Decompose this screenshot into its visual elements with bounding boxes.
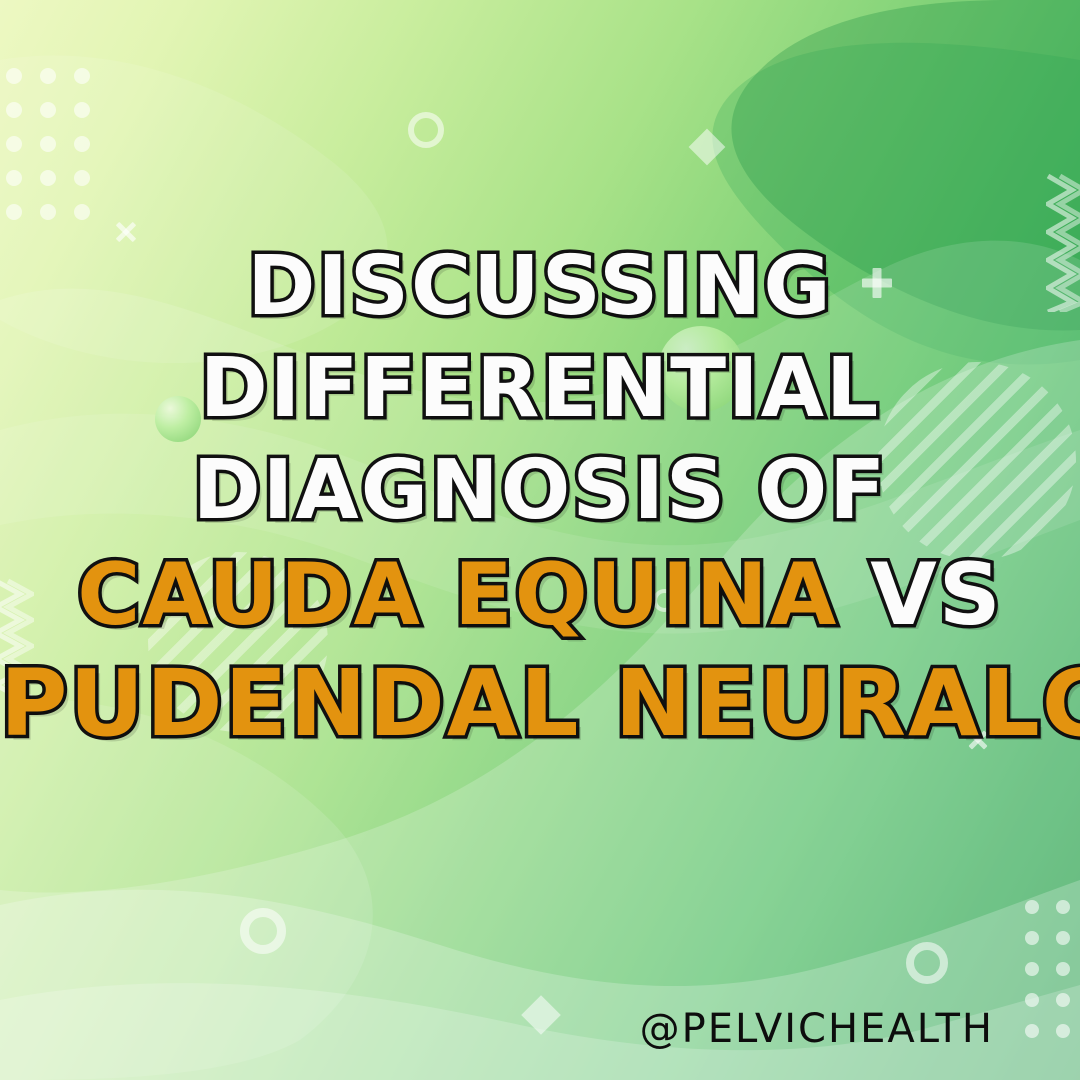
poster-canvas: DISCUSSING DIFFERENTIAL DIAGNOSIS OF CAU…	[0, 0, 1080, 1080]
headline-line-4-vs: VS	[870, 545, 1003, 645]
headline-line-2: DIFFERENTIAL	[0, 348, 1080, 430]
headline-block: DISCUSSING DIFFERENTIAL DIAGNOSIS OF CAU…	[0, 246, 1080, 750]
headline-line-4: CAUDA EQUINA VS	[0, 552, 1080, 638]
headline-line-5: PUDENDAL NEURALGIA	[0, 658, 1080, 750]
headline-line-4-orange-part: CAUDA EQUINA	[77, 545, 870, 645]
headline-line-1: DISCUSSING	[0, 246, 1080, 328]
headline-line-3: DIAGNOSIS OF	[0, 450, 1080, 532]
brand-handle: @PELVICHEALTH	[640, 1006, 994, 1052]
